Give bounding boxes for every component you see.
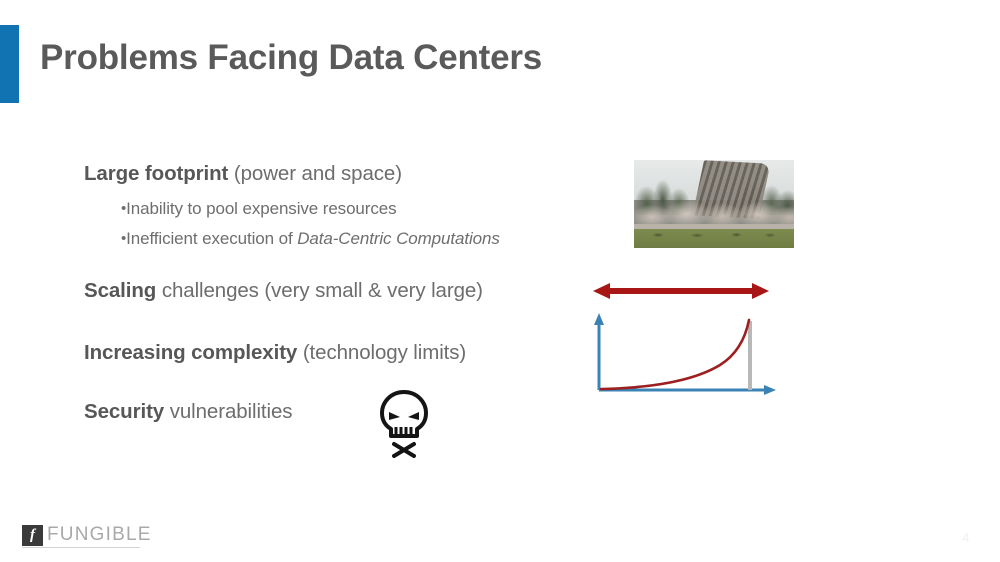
fungible-logo: f FUNGIBLE [22,524,152,546]
fungible-logo-mark: f [22,525,43,546]
bullet-lead-text: Scaling [84,279,156,302]
skull-right-eye [408,412,419,420]
skull-crossbones [394,444,414,456]
title-accent-bar [0,25,19,103]
building-demolition-photo [634,160,794,248]
sub-bullet-emphasis: Data-Centric Computations [297,229,500,248]
footer-divider [22,547,140,548]
fungible-wordmark: FUNGIBLE [47,524,152,546]
skull-icon [376,389,432,459]
bullet-rest-text: (power and space) [228,162,402,185]
red-double-arrow-icon [593,279,769,303]
chart-y-axis-arrowhead [594,313,604,325]
bullet-rest-text: challenges (very small & very large) [156,279,483,302]
bullet-scaling-challenges: Scaling challenges (very small & very la… [84,279,483,303]
sub-bullet-inefficient-execution: •Inefficient execution of Data-Centric C… [121,229,500,249]
chart-curve [601,320,749,389]
bullet-rest-text: (technology limits) [297,341,466,364]
sub-bullet-label: Inefficient execution of [126,229,297,248]
bullet-lead-text: Large footprint [84,162,228,185]
page-number: 4 [962,530,969,545]
sub-bullet-pool-resources: •Inability to pool expensive resources [121,199,397,219]
bullet-lead-text: Increasing complexity [84,341,297,364]
exponential-growth-chart [588,310,784,400]
skull-left-eye [389,412,400,420]
bullet-large-footprint: Large footprint (power and space) [84,162,402,186]
sub-bullet-label: Inability to pool expensive resources [126,199,396,218]
chart-x-axis-arrowhead [764,385,776,395]
slide-canvas: Problems Facing Data Centers Large footp… [0,0,1000,562]
page-title: Problems Facing Data Centers [40,38,542,78]
bullet-increasing-complexity: Increasing complexity (technology limits… [84,341,466,365]
bullet-lead-text: Security [84,400,164,423]
bullet-security-vulnerabilities: Security vulnerabilities [84,400,292,424]
bullet-rest-text: vulnerabilities [164,400,292,423]
photo-grass-field [634,229,794,248]
